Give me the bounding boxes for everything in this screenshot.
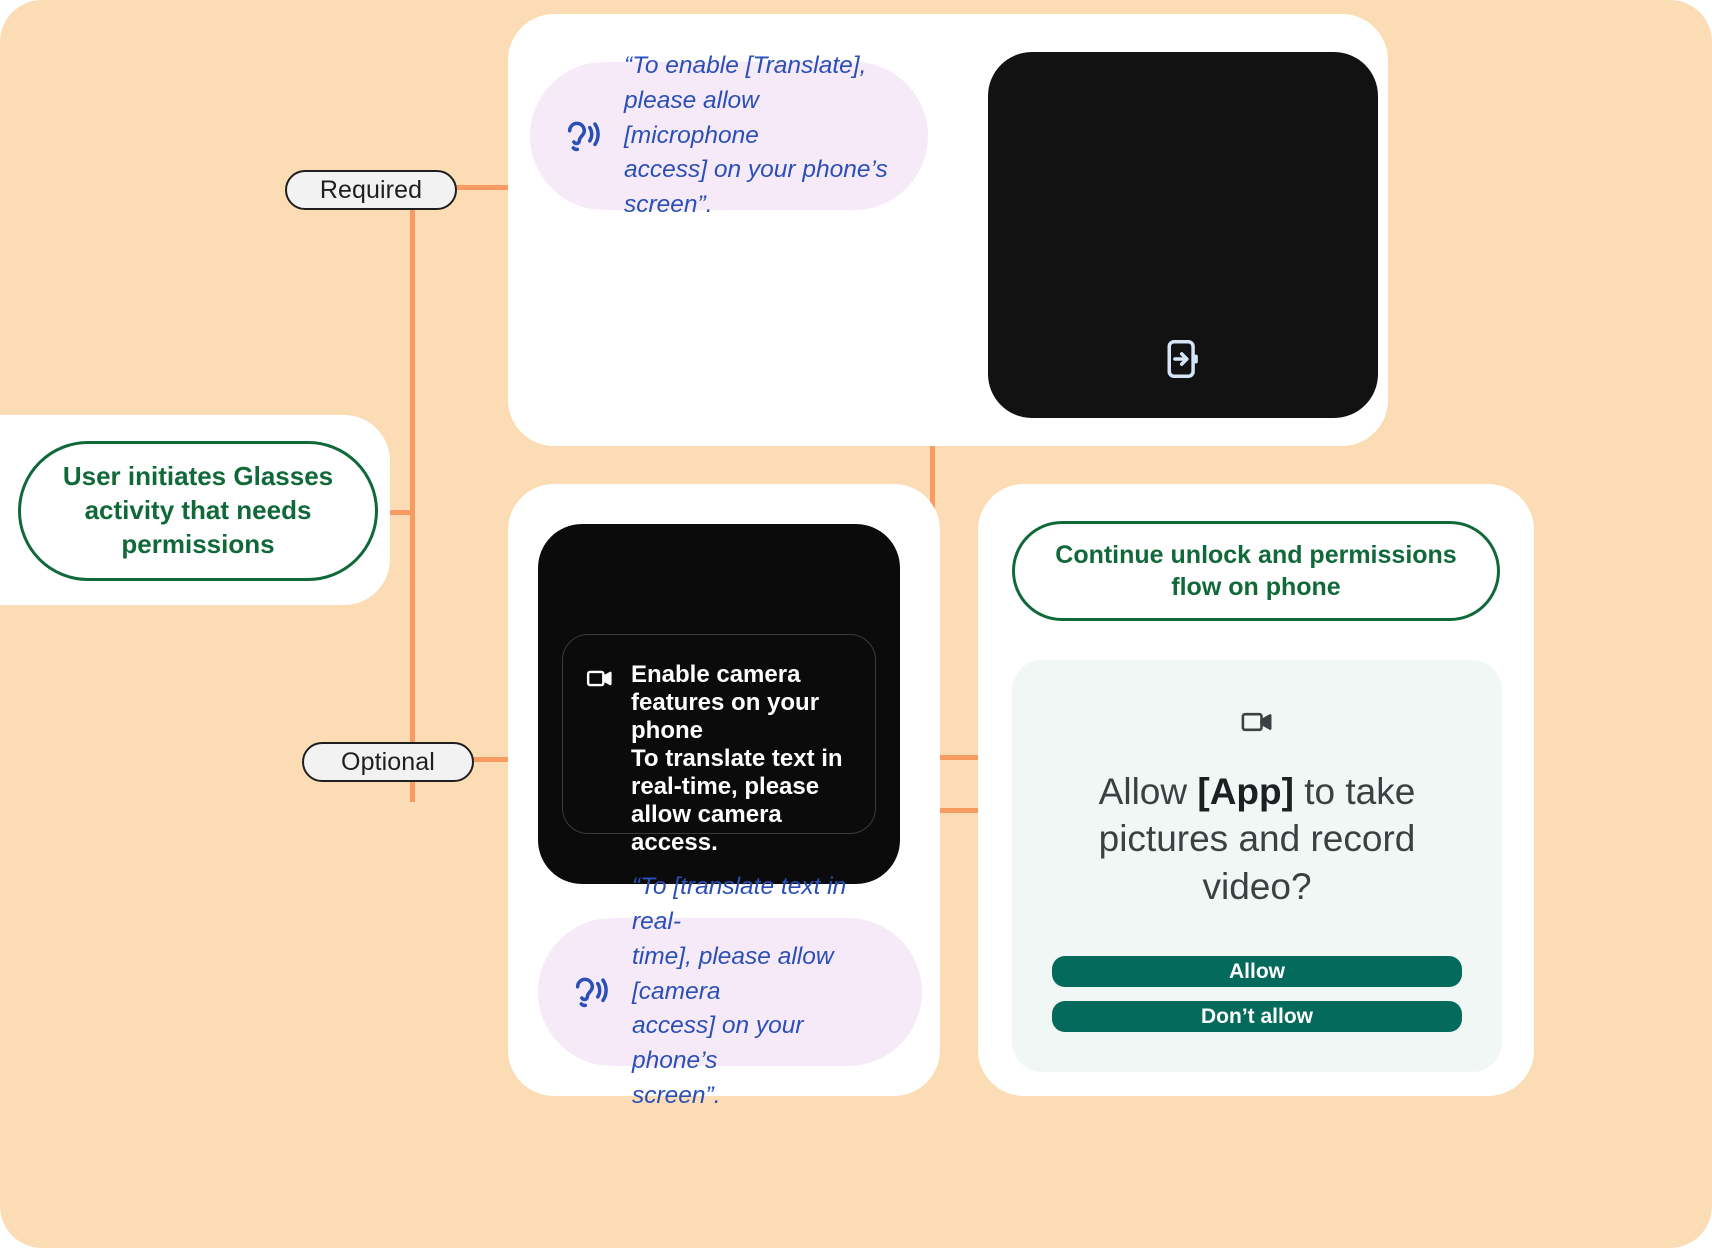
diagram-canvas: User initiates Glasses activity that nee… [0, 0, 1712, 1248]
node-start-label: User initiates Glasses activity that nee… [47, 460, 349, 561]
permission-app-name: [App] [1197, 771, 1294, 812]
glasses-camera-body: To translate text in real-time, please a… [631, 745, 853, 857]
glasses-camera-text: Enable camera features on your phone To … [631, 661, 853, 807]
permission-question: Allow [App] to take pictures and record … [1012, 768, 1502, 910]
pill-optional-label: Optional [341, 748, 435, 777]
android-permission-dialog: Allow [App] to take pictures and record … [1012, 660, 1502, 1072]
allow-button[interactable]: Allow [1052, 956, 1462, 987]
connector-required-to-bubble [456, 185, 516, 190]
permission-question-prefix: Allow [1099, 771, 1198, 812]
pill-required-label: Required [320, 176, 422, 205]
dont-allow-button[interactable]: Don’t allow [1052, 1001, 1462, 1032]
glasses-card-camera: Enable camera features on your phone To … [538, 524, 900, 884]
pill-required[interactable]: Required [285, 170, 457, 210]
dont-allow-button-label: Don’t allow [1201, 1005, 1313, 1029]
allow-button-label: Allow [1229, 960, 1285, 984]
glasses-camera-heading: Enable camera features on your phone [631, 661, 819, 744]
bubble-camera-prompt: “To [translate text in real- time], plea… [538, 918, 922, 1066]
connector-trunk-vertical [410, 207, 415, 802]
ear-hearing-icon [568, 971, 610, 1013]
node-continue-on-phone[interactable]: Continue unlock and permissions flow on … [1012, 521, 1500, 621]
bubble-camera-text: “To [translate text in real- time], plea… [632, 870, 888, 1113]
glasses-camera-notification: Enable camera features on your phone To … [562, 634, 876, 834]
node-start-activity[interactable]: User initiates Glasses activity that nee… [18, 441, 378, 581]
node-continue-label: Continue unlock and permissions flow on … [1045, 539, 1467, 604]
ear-hearing-icon [560, 115, 602, 157]
unlock-phone-icon [1161, 337, 1205, 381]
video-camera-icon [585, 664, 614, 693]
bubble-microphone-text: “To enable [Translate], please allow [mi… [624, 49, 894, 223]
video-camera-icon [1235, 704, 1279, 740]
glasses-card-unlock [988, 52, 1378, 418]
bubble-microphone-prompt: “To enable [Translate], please allow [mi… [530, 62, 928, 210]
pill-optional[interactable]: Optional [302, 742, 474, 782]
